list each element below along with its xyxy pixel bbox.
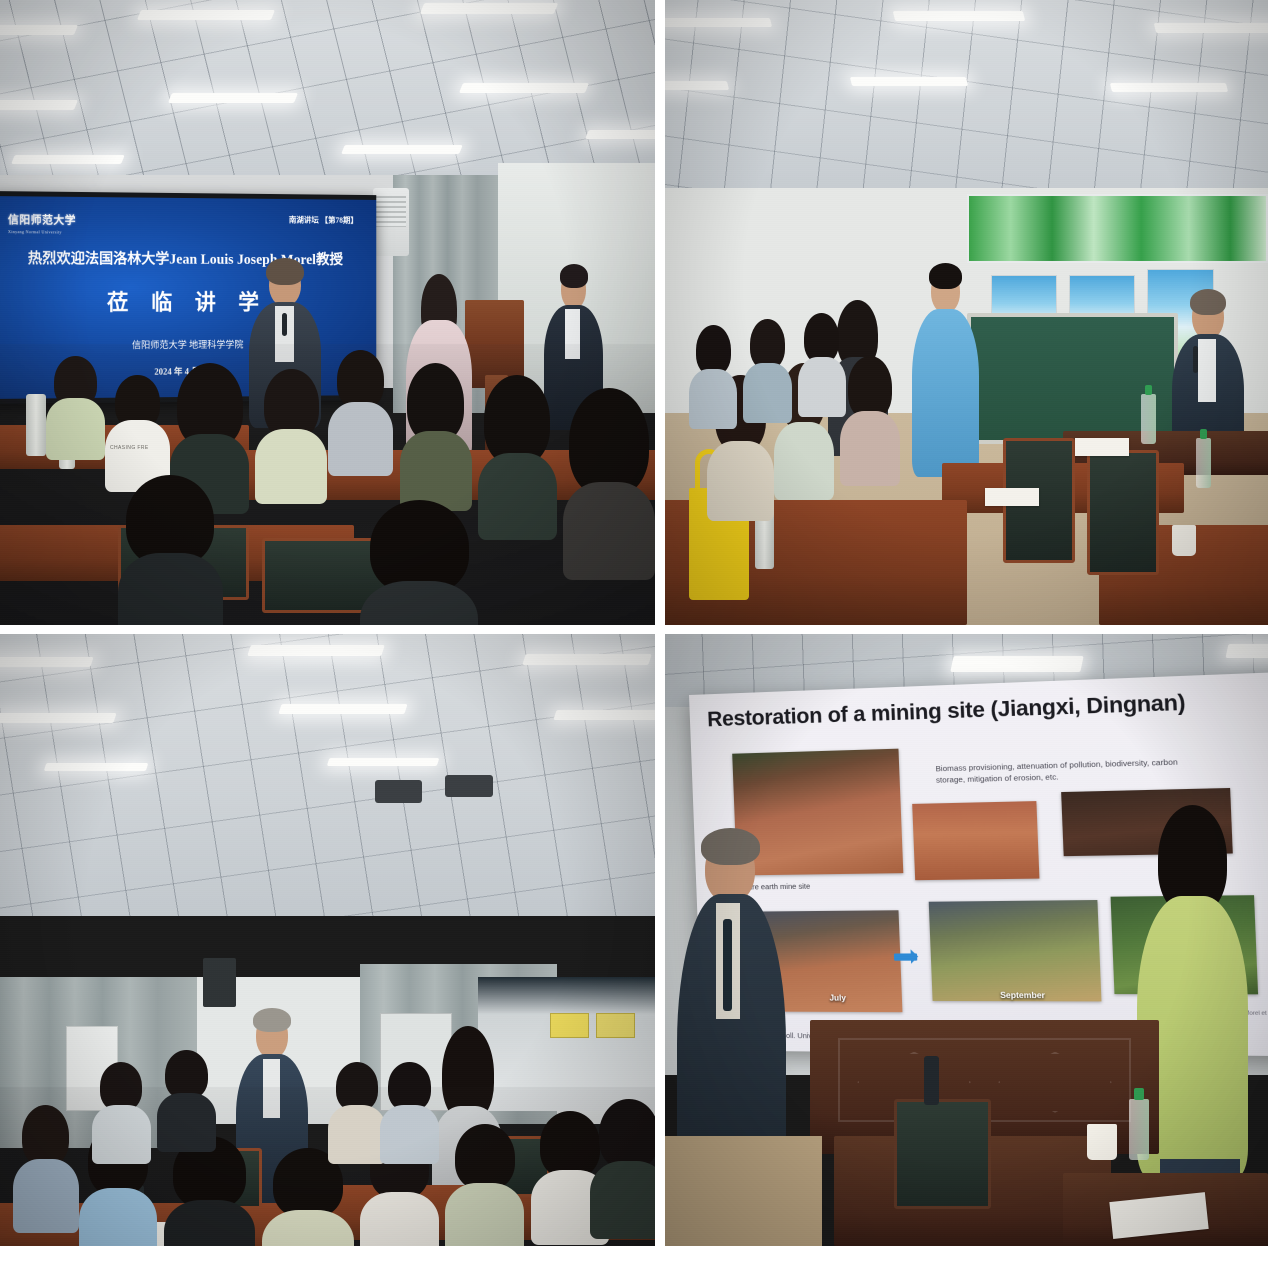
hair — [100, 1062, 142, 1111]
torso — [164, 1200, 256, 1246]
audience-member — [328, 1062, 387, 1160]
audience-member — [380, 1062, 439, 1160]
paper-cup — [1087, 1124, 1117, 1161]
audience-member — [92, 1062, 151, 1160]
hair — [569, 388, 650, 497]
audience-member — [13, 1105, 79, 1227]
audience-member — [840, 356, 900, 481]
ceiling-light — [850, 77, 968, 86]
hair — [804, 313, 839, 363]
logo-cn: 信阳师范大学 — [8, 214, 76, 226]
slide-image-soil-core — [912, 801, 1039, 881]
hair — [266, 258, 303, 286]
desk-microphone — [924, 1056, 939, 1105]
torso — [840, 411, 900, 486]
projector — [445, 775, 492, 798]
ceiling — [0, 634, 655, 916]
projector — [375, 780, 422, 803]
ceiling-light — [341, 145, 462, 154]
photo-collage: 信阳师范大学 Xinyang Normal University 南湖讲坛 【第… — [0, 0, 1268, 1268]
lecture-series-badge: 南湖讲坛 【第78期】 — [289, 214, 358, 225]
ceiling-light — [1153, 23, 1268, 33]
photo-panel-bottom-right: Restoration of a mining site (Jiangxi, D… — [665, 634, 1268, 1246]
torso — [380, 1105, 439, 1164]
transition-arrow-icon — [894, 954, 917, 961]
audience-member — [743, 319, 791, 419]
hair — [848, 356, 891, 419]
ceiling-light — [1226, 644, 1268, 658]
ceiling-grid — [0, 634, 655, 916]
speaker-box — [203, 958, 236, 1007]
floor — [665, 1136, 822, 1246]
torso — [328, 1105, 387, 1164]
hair — [22, 1105, 69, 1166]
torso — [707, 441, 773, 521]
ceiling-light — [326, 758, 439, 766]
paper-cup — [1172, 525, 1196, 556]
chair-back — [1087, 450, 1159, 575]
torso — [157, 1093, 216, 1152]
ceiling-light — [0, 713, 117, 723]
chair-back — [894, 1099, 990, 1209]
photo-panel-top-right — [665, 0, 1268, 625]
audience-member — [157, 1050, 216, 1148]
slide-subtitle: Biomass provisioning, attenuation of pol… — [935, 755, 1203, 785]
slide-stage-label-july: July — [829, 994, 846, 1003]
shirt — [1198, 339, 1217, 402]
torso — [255, 429, 327, 504]
window — [967, 194, 1268, 263]
torso — [478, 453, 557, 540]
audience-member — [118, 475, 223, 625]
ceiling-light — [247, 645, 384, 656]
torso — [360, 581, 478, 625]
torso — [262, 1210, 354, 1246]
audience-member — [328, 350, 394, 469]
torso — [743, 363, 791, 423]
ceiling-light — [137, 10, 275, 20]
ceiling-light — [893, 11, 1026, 21]
hair — [370, 500, 469, 594]
person-standing-student — [912, 269, 978, 469]
hair — [599, 1099, 655, 1169]
hair — [388, 1062, 430, 1111]
audience-member — [563, 388, 655, 563]
audience-member — [46, 356, 105, 456]
audience-member — [445, 1124, 524, 1246]
hair — [455, 1124, 515, 1191]
audience-member — [590, 1099, 656, 1234]
hair — [560, 264, 588, 287]
slide-stage-label-september: September — [1000, 990, 1045, 1000]
water-bottle — [1129, 1099, 1148, 1160]
torso — [912, 309, 978, 477]
ceiling-light — [11, 155, 125, 164]
ceiling-light — [1110, 83, 1228, 92]
torso — [445, 1183, 524, 1246]
photo-panel-bottom-left — [0, 634, 655, 1246]
microphone — [723, 919, 733, 1011]
hair — [253, 1008, 290, 1032]
torso — [118, 553, 223, 625]
photo-panel-top-left: 信阳师范大学 Xinyang Normal University 南湖讲坛 【第… — [0, 0, 655, 625]
torso — [563, 482, 655, 580]
air-conditioner — [373, 188, 409, 257]
ceiling-light — [665, 81, 729, 90]
torso — [798, 357, 846, 417]
ceiling-light — [950, 656, 1084, 672]
thermos — [26, 394, 46, 457]
torso — [360, 1192, 439, 1246]
hair — [337, 350, 384, 409]
sign-yellow — [550, 1013, 589, 1037]
audience-member — [164, 1136, 256, 1246]
ceiling-light — [585, 130, 655, 139]
logo-en: Xinyang Normal University — [8, 229, 76, 234]
hair — [929, 263, 962, 289]
audience-member — [798, 313, 846, 413]
ceiling-light — [168, 93, 298, 103]
water-bottle — [1141, 394, 1155, 444]
water-bottle — [1196, 438, 1212, 488]
hair — [701, 828, 760, 865]
ceiling-light — [459, 83, 589, 93]
microphone — [282, 313, 287, 336]
torso — [13, 1159, 79, 1232]
slide-title: Restoration of a mining site (Jiangxi, D… — [707, 691, 1186, 733]
ceiling-light — [665, 18, 772, 27]
audience-member — [478, 375, 557, 525]
papers — [1075, 438, 1129, 457]
papers — [985, 488, 1039, 507]
audience-member — [689, 325, 737, 425]
hair — [165, 1050, 207, 1099]
ceiling-light — [420, 3, 558, 14]
slide-image-stage-september — [929, 901, 1102, 1002]
hair — [484, 375, 550, 465]
hair — [696, 325, 731, 375]
torso — [46, 398, 105, 460]
torso — [774, 422, 834, 501]
hair — [1190, 289, 1226, 315]
tshirt-text: CHASING FRE — [110, 445, 149, 451]
torso — [79, 1188, 158, 1246]
university-logo: 信阳师范大学 Xinyang Normal University — [8, 210, 76, 234]
ceiling-light — [0, 25, 78, 35]
torso — [689, 369, 737, 429]
ceiling-light — [522, 654, 651, 665]
ceiling-light — [43, 763, 148, 771]
sign-yellow — [596, 1013, 635, 1037]
torso — [590, 1161, 656, 1239]
ceiling-light — [279, 704, 408, 714]
hair — [336, 1062, 378, 1111]
ceiling-light — [554, 710, 655, 720]
audience-member — [360, 500, 478, 625]
audience-member: CHASING FRE — [105, 375, 171, 488]
microphone — [1193, 346, 1197, 372]
ceiling-light — [0, 100, 78, 110]
hair — [750, 319, 785, 369]
audience-member — [400, 363, 472, 501]
torso — [328, 402, 394, 476]
torso — [92, 1105, 151, 1164]
ceiling-light — [0, 657, 93, 667]
audience-member — [255, 369, 327, 494]
